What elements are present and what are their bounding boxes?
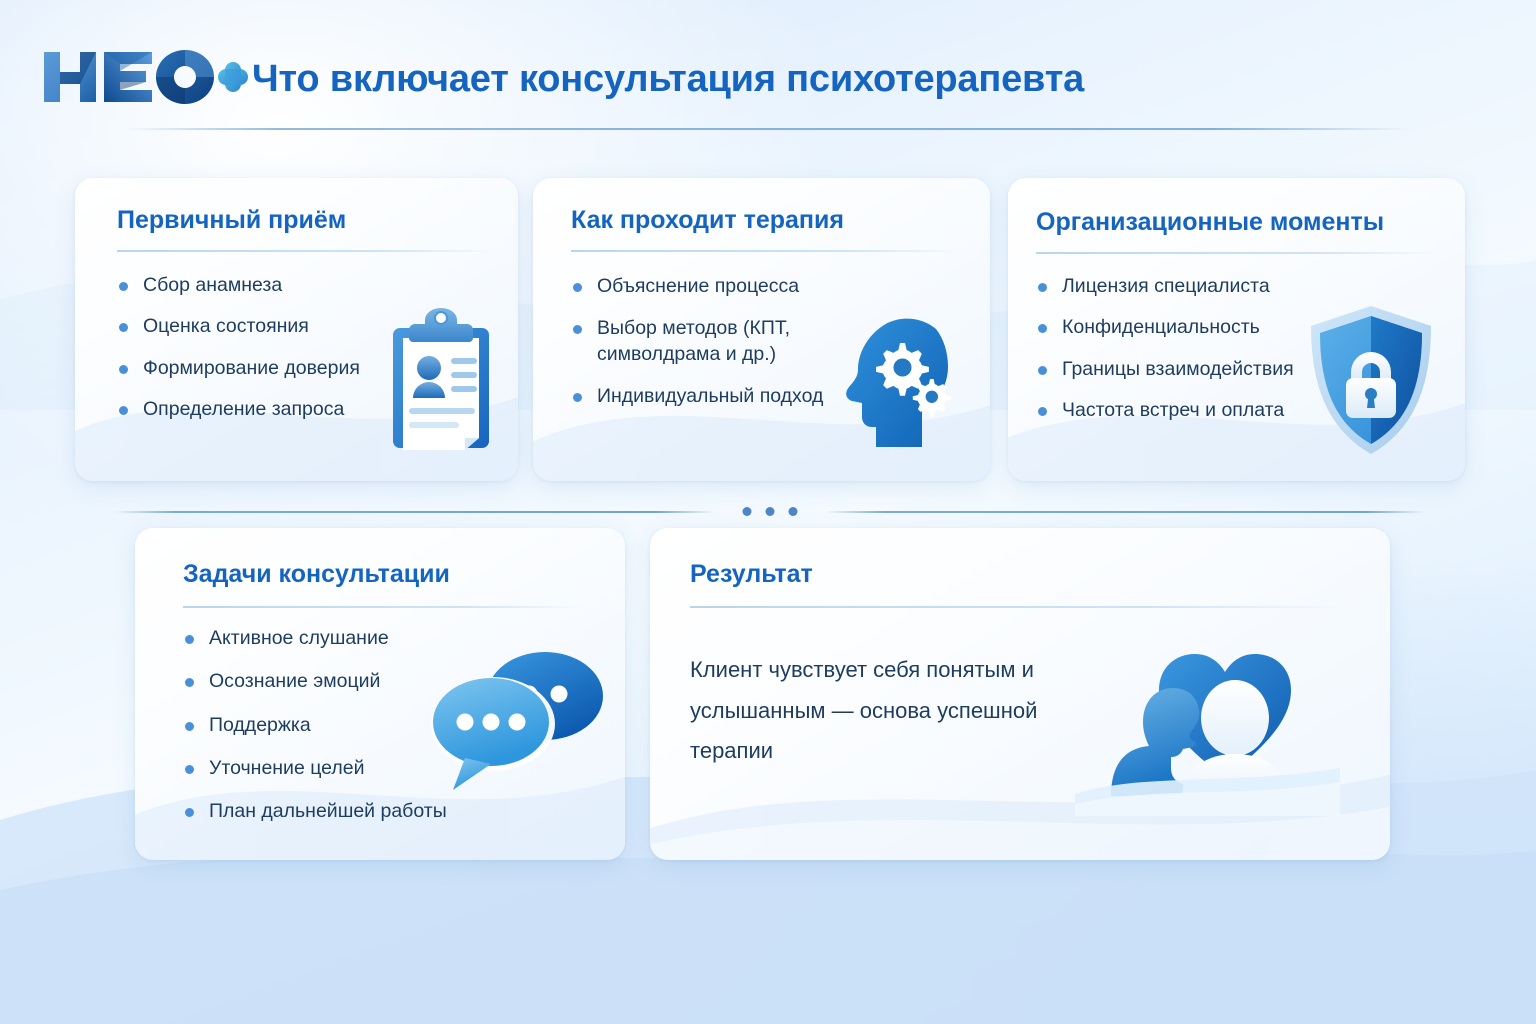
speech-bubbles-icon	[425, 638, 610, 803]
neo-plus-logo	[40, 46, 250, 108]
card-title-divider	[1036, 252, 1436, 254]
card-consultation-tasks[interactable]: Задачи консультации Активное слушание Ос…	[135, 528, 625, 860]
shield-lock-icon	[1305, 304, 1437, 456]
row-divider	[115, 506, 1425, 518]
card-title: Как проходит терапия	[571, 206, 844, 235]
card-title-divider	[117, 250, 495, 252]
list-item: Выбор методов (КПТ, символдрама и др.)	[571, 316, 861, 367]
list-item: План дальнейшей работы	[183, 799, 483, 824]
list-item: Лицензия специалиста	[1036, 274, 1356, 299]
card-bullet-list: Объяснение процесса Выбор методов (КПТ, …	[571, 274, 861, 409]
card-organizational[interactable]: Организационные моменты Лицензия специал…	[1008, 178, 1465, 481]
card-title-divider	[571, 250, 961, 252]
card-title: Результат	[690, 560, 813, 589]
divider-line-left	[115, 511, 715, 513]
head-gears-icon	[838, 311, 962, 451]
card-how-therapy-works[interactable]: Как проходит терапия Объяснение процесса…	[533, 178, 990, 481]
header-divider	[125, 128, 1410, 130]
card-primary-intake[interactable]: Первичный приём Сбор анамнеза Оценка сос…	[75, 178, 518, 481]
list-item: Индивидуальный подход	[571, 384, 861, 409]
card-title: Организационные моменты	[1036, 208, 1384, 237]
card-title: Задачи консультации	[183, 560, 450, 589]
list-item: Объяснение процесса	[571, 274, 861, 299]
card-result[interactable]: Результат Клиент чувствует себя понятым …	[650, 528, 1390, 860]
divider-line-right	[825, 511, 1425, 513]
page-title: Что включает консультация психотерапевта	[252, 58, 1084, 101]
card-title-divider	[183, 606, 583, 608]
result-body-text: Клиент чувствует себя понятым и услышанн…	[690, 650, 1100, 772]
list-item: Сбор анамнеза	[117, 273, 447, 298]
divider-dots	[743, 506, 798, 516]
page-header: Что включает консультация психотерапевта	[0, 0, 1536, 140]
heart-people-icon	[1075, 626, 1340, 816]
card-title-divider	[690, 606, 1350, 608]
clipboard-person-icon	[387, 306, 495, 454]
card-title: Первичный приём	[117, 206, 346, 235]
